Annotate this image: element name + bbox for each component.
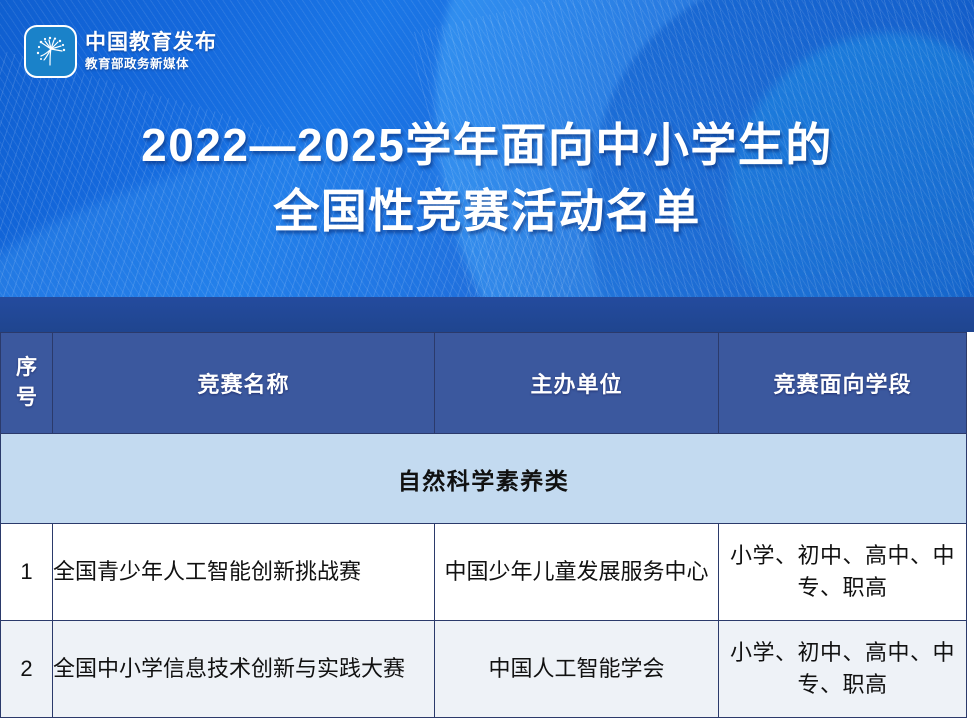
column-header-name: 竞赛名称 xyxy=(53,333,435,434)
column-header-stage: 竞赛面向学段 xyxy=(719,333,967,434)
page-banner: 中国教育发布 教育部政务新媒体 2022—2025学年面向中小学生的 全国性竞赛… xyxy=(0,0,974,297)
cell-stage: 小学、初中、高中、中专、职高 xyxy=(719,621,967,718)
logo-title: 中国教育发布 xyxy=(85,32,217,53)
cell-stage: 小学、初中、高中、中专、职高 xyxy=(719,524,967,621)
page-title-line-2: 全国性竞赛活动名单 xyxy=(0,178,974,244)
cell-organizer: 中国人工智能学会 xyxy=(435,621,719,718)
dandelion-icon xyxy=(24,25,77,78)
brand-logo: 中国教育发布 教育部政务新媒体 xyxy=(24,25,217,78)
competition-list-table: 序 号 竞赛名称 主办单位 竞赛面向学段 自然科学素养类 1 全国青少年人工智能… xyxy=(0,332,967,718)
logo-subtitle: 教育部政务新媒体 xyxy=(85,58,217,71)
table-row: 2 全国中小学信息技术创新与实践大赛 中国人工智能学会 小学、初中、高中、中专、… xyxy=(1,621,967,718)
column-header-no-line1: 序 xyxy=(1,353,52,383)
cell-no: 2 xyxy=(1,621,53,718)
cell-name: 全国青少年人工智能创新挑战赛 xyxy=(53,524,435,621)
column-header-no-line2: 号 xyxy=(1,383,52,413)
cell-name: 全国中小学信息技术创新与实践大赛 xyxy=(53,621,435,718)
cell-no: 1 xyxy=(1,524,53,621)
cell-organizer: 中国少年儿童发展服务中心 xyxy=(435,524,719,621)
category-row: 自然科学素养类 xyxy=(1,434,967,524)
category-label: 自然科学素养类 xyxy=(1,434,967,524)
competition-table-container: 序 号 竞赛名称 主办单位 竞赛面向学段 自然科学素养类 1 全国青少年人工智能… xyxy=(0,332,974,718)
column-header-organizer: 主办单位 xyxy=(435,333,719,434)
column-header-no: 序 号 xyxy=(1,333,53,434)
table-header-row: 序 号 竞赛名称 主办单位 竞赛面向学段 xyxy=(1,333,967,434)
page-title-line-1: 2022—2025学年面向中小学生的 xyxy=(0,112,974,178)
banner-divider-strip xyxy=(0,297,974,332)
page-title: 2022—2025学年面向中小学生的 全国性竞赛活动名单 xyxy=(0,112,974,244)
table-row: 1 全国青少年人工智能创新挑战赛 中国少年儿童发展服务中心 小学、初中、高中、中… xyxy=(1,524,967,621)
